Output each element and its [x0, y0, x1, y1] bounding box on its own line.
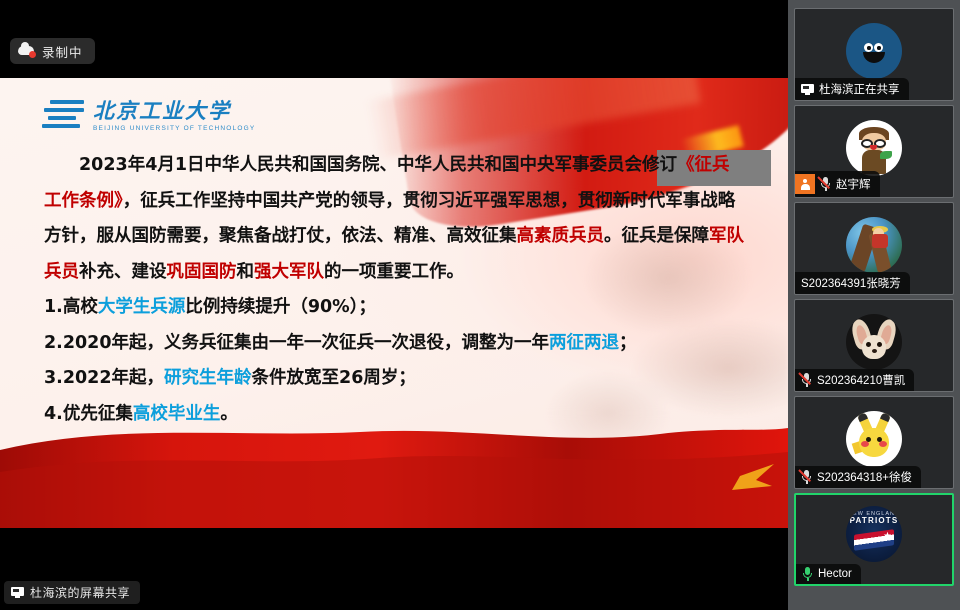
slide-bullet-2: 2.2020年起，义务兵征集由一年一次征兵一次退役，调整为一年两征两退；: [44, 326, 744, 362]
slide-text-body: 2023年4月1日中华人民共和国国务院、中华人民共和国中央军事委员会修订《征兵工…: [44, 148, 744, 432]
screen-share-icon: [801, 84, 814, 95]
host-person-icon: [795, 174, 815, 194]
but-stripes-logo-icon: [42, 100, 84, 132]
pikachu-avatar: [846, 411, 902, 467]
red-silk-decoration: [0, 398, 788, 528]
participant-name: 赵宇辉: [836, 176, 871, 192]
participant-nameplate: S202364318+徐俊: [795, 466, 921, 488]
mr-saturn-avatar: [846, 120, 902, 176]
participant-sidebar[interactable]: 杜海滨正在共享 赵宇辉: [788, 0, 960, 610]
shared-screen-area: 录制中 北京工业大学 BEIJING UNIVERSITY OF TECHNOL…: [0, 0, 788, 610]
avatar-text-big: PATRIOTS: [846, 516, 902, 525]
screen-share-icon: [11, 587, 24, 598]
participant-tile-xujun[interactable]: S202364318+徐俊: [794, 396, 954, 489]
participant-tile-caokai[interactable]: S202364210曹凯: [794, 299, 954, 392]
university-logo: 北京工业大学 BEIJING UNIVERSITY OF TECHNOLOGY: [42, 100, 255, 132]
mic-muted-icon: [801, 470, 812, 484]
mic-muted-icon: [820, 177, 831, 191]
fennec-fox-avatar: [846, 314, 902, 370]
participant-nameplate: S202364391张晓芳: [795, 272, 910, 294]
participant-name: S202364210曹凯: [817, 372, 905, 388]
participant-nameplate: Hector: [796, 564, 861, 584]
logo-english-name: BEIJING UNIVERSITY OF TECHNOLOGY: [93, 125, 255, 132]
participant-name: S202364391张晓芳: [801, 275, 901, 291]
participant-name: S202364318+徐俊: [817, 469, 912, 485]
slide-bullet-3: 3.2022年起，研究生年龄条件放宽至26周岁；: [44, 361, 744, 397]
cookie-monster-avatar: [846, 23, 902, 79]
participant-name: 杜海滨正在共享: [819, 81, 900, 97]
participant-nameplate: S202364210曹凯: [795, 369, 914, 391]
recording-label: 录制中: [42, 42, 83, 61]
slide-paragraph-1: 2023年4月1日中华人民共和国国务院、中华人民共和国中央军事委员会修订《征兵工…: [44, 148, 744, 290]
presentation-slide: 北京工业大学 BEIJING UNIVERSITY OF TECHNOLOGY …: [0, 78, 788, 528]
screen-share-status-label: 杜海滨的屏幕共享: [4, 581, 140, 604]
slide-bullet-1: 1.高校大学生兵源比例持续提升（90%）；: [44, 290, 744, 326]
patriots-logo-avatar: NEW ENGLAND PATRIOTS ★: [846, 506, 902, 562]
mic-muted-icon: [801, 373, 812, 387]
cloud-record-icon: [18, 44, 36, 58]
participant-tile-zhaoyuhui[interactable]: 赵宇辉: [794, 105, 954, 198]
participant-tile-hector[interactable]: NEW ENGLAND PATRIOTS ★ Hector: [794, 493, 954, 586]
logo-chinese-name: 北京工业大学: [93, 100, 255, 122]
recording-indicator: 录制中: [10, 38, 95, 64]
screen-share-status-text: 杜海滨的屏幕共享: [30, 584, 130, 601]
participant-name: Hector: [818, 568, 852, 580]
zoom-meeting-window: 录制中 北京工业大学 BEIJING UNIVERSITY OF TECHNOL…: [0, 0, 960, 610]
luffy-avatar: [846, 217, 902, 273]
participant-nameplate: 赵宇辉: [795, 171, 880, 197]
participant-tile-zhangxiaofang[interactable]: S202364391张晓芳: [794, 202, 954, 295]
participant-nameplate: 杜海滨正在共享: [795, 78, 909, 100]
participant-tile-duhaibin[interactable]: 杜海滨正在共享: [794, 8, 954, 101]
mic-on-icon: [802, 567, 813, 581]
